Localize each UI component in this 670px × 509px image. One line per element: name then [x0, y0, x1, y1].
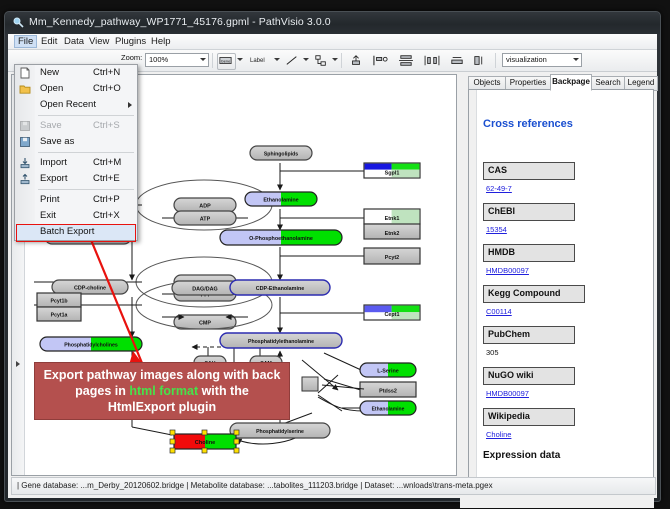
xref-db-name: PubChem: [488, 329, 530, 339]
menu-item-print[interactable]: Print Ctrl+P: [15, 192, 137, 208]
menu-edit[interactable]: Edit: [37, 35, 61, 48]
title-bar: Mm_Kennedy_pathway_WP1771_45176.gpml - P…: [5, 12, 660, 34]
gene-product-icon: Gene: [218, 54, 233, 67]
zoom-combobox[interactable]: 100%: [145, 53, 209, 67]
gene-tool-dropdown-arrow[interactable]: [237, 58, 243, 61]
cross-references-heading: Cross references: [483, 118, 573, 130]
xref-label-hmdb: HMDB: [483, 244, 575, 262]
annotation-line2-suffix: with the: [198, 384, 249, 398]
stack-vertical-button[interactable]: [396, 53, 418, 70]
xref-db-name: Wikipedia: [488, 411, 530, 421]
label-tool-button[interactable]: Label: [246, 53, 274, 70]
menu-item-open[interactable]: Open Ctrl+O: [15, 81, 137, 97]
interaction-tool-button[interactable]: [312, 53, 332, 70]
label-tool-label: Label: [250, 58, 265, 64]
menu-item-label: Import: [40, 157, 67, 168]
same-width-icon: [449, 54, 465, 67]
stack-vertical-icon: [397, 54, 415, 67]
backpage-scrollbar[interactable]: [469, 90, 477, 494]
xref-db-name: CAS: [488, 165, 507, 175]
menu-item-accel: Ctrl+S: [93, 120, 120, 131]
xref-value-hmdb[interactable]: HMDB00097: [486, 266, 529, 275]
gene-product-tool-button[interactable]: Gene: [217, 53, 236, 70]
xref-label-chebi: ChEBI: [483, 203, 575, 221]
xref-value-kegg[interactable]: C00114: [486, 307, 512, 316]
menu-item-label: Batch Export: [40, 226, 94, 237]
menu-item-label: New: [40, 67, 59, 78]
line-icon: [284, 54, 300, 67]
expression-data-heading: Expression data: [483, 450, 560, 461]
import-icon: [19, 157, 31, 169]
line-tool-button[interactable]: [283, 53, 303, 70]
xref-value-pubchem: 305: [486, 348, 499, 357]
same-width-button[interactable]: [448, 53, 468, 70]
annotation-line2-prefix: pages in: [75, 384, 129, 398]
screenshot-root: Mm_Kennedy_pathway_WP1771_45176.gpml - P…: [0, 0, 670, 509]
menu-item-label: Exit: [40, 210, 56, 221]
chevron-right-icon: [128, 102, 132, 108]
menu-data[interactable]: Data: [60, 35, 88, 48]
annotation-line1: Export pathway images along with back: [44, 368, 281, 382]
menu-item-accel: Ctrl+N: [93, 67, 120, 78]
menu-item-export[interactable]: Export Ctrl+E: [15, 171, 137, 187]
align-left-button[interactable]: [370, 53, 392, 70]
chevron-down-icon: [200, 58, 206, 61]
menu-separator: [38, 152, 134, 153]
tab-backpage[interactable]: Backpage: [550, 74, 592, 91]
xref-label-wikipedia: Wikipedia: [483, 408, 575, 426]
xref-db-name: ChEBI: [488, 206, 515, 216]
menu-item-label: Save: [40, 120, 62, 131]
menu-item-save-as[interactable]: Save as: [15, 134, 137, 150]
backpage-content: Cross references CAS 62-49-7 ChEBI 15354…: [468, 89, 654, 495]
menu-item-exit[interactable]: Exit Ctrl+X: [15, 208, 137, 224]
menu-item-label: Print: [40, 194, 60, 205]
menu-separator: [38, 115, 134, 116]
line-tool-dropdown-arrow[interactable]: [303, 58, 309, 61]
side-panel: Objects Properties Backpage Search Legen…: [460, 74, 654, 508]
visualization-value: visualization: [506, 55, 547, 64]
align-top-icon: [348, 54, 364, 67]
align-top-button[interactable]: [347, 53, 367, 70]
interaction-tool-dropdown-arrow[interactable]: [332, 58, 338, 61]
menu-item-import[interactable]: Import Ctrl+M: [15, 155, 137, 171]
menu-item-label: Open: [40, 83, 63, 94]
menu-item-accel: Ctrl+M: [93, 157, 121, 168]
menu-item-accel: Ctrl+O: [93, 83, 121, 94]
same-height-button[interactable]: [471, 53, 491, 70]
pathvisio-app-icon: [13, 17, 25, 29]
zoom-value: 100%: [149, 55, 168, 64]
xref-value-nugo[interactable]: HMDB00097: [486, 389, 529, 398]
xref-value-chebi[interactable]: 15354: [486, 225, 507, 234]
zoom-label: Zoom:: [121, 53, 142, 62]
status-bar: | Gene database: ...m_Derby_20120602.bri…: [11, 477, 656, 495]
file-menu-dropdown[interactable]: New Ctrl+N Open Ctrl+O Open Recent: [14, 64, 138, 241]
menu-view[interactable]: View: [85, 35, 113, 48]
xref-db-name: HMDB: [488, 247, 515, 257]
annotation-line2-highlight: html format: [129, 384, 198, 398]
save-disk-icon: [19, 120, 31, 132]
new-document-icon: [19, 67, 31, 79]
menu-bar: File Edit Data View Plugins Help: [8, 34, 657, 50]
xref-db-name: Kegg Compound: [488, 288, 561, 298]
label-tool-dropdown-arrow[interactable]: [274, 58, 280, 61]
distribute-horizontal-icon: [423, 54, 441, 67]
xref-value-wikipedia[interactable]: Choline: [486, 430, 511, 439]
visualization-combobox[interactable]: visualization: [502, 53, 582, 67]
align-left-icon: [371, 54, 389, 67]
side-panel-tabstrip: Objects Properties Backpage Search Legen…: [468, 74, 654, 89]
menu-item-open-recent[interactable]: Open Recent: [15, 97, 137, 113]
status-bar-text: | Gene database: ...m_Derby_20120602.bri…: [17, 481, 493, 490]
menu-file[interactable]: File: [14, 35, 37, 48]
xref-label-cas: CAS: [483, 162, 575, 180]
xref-label-nugo: NuGO wiki: [483, 367, 575, 385]
menu-item-accel: Ctrl+E: [93, 173, 120, 184]
same-height-icon: [472, 54, 488, 67]
save-as-icon: [19, 136, 31, 148]
menu-item-label: Save as: [40, 136, 74, 147]
xref-label-pubchem: PubChem: [483, 326, 575, 344]
svg-text:Gene: Gene: [221, 58, 231, 63]
distribute-button[interactable]: [422, 53, 444, 70]
annotation-line3: HtmlExport plugin: [108, 400, 216, 414]
menu-item-accel: Ctrl+X: [93, 210, 120, 221]
menu-separator: [38, 189, 134, 190]
chevron-down-icon: [573, 58, 579, 61]
menu-help[interactable]: Help: [147, 35, 175, 48]
menu-item-batch-export[interactable]: Batch Export: [15, 224, 137, 240]
xref-value-cas[interactable]: 62-49-7: [486, 184, 512, 193]
interaction-icon: [313, 54, 329, 67]
menu-plugins[interactable]: Plugins: [111, 35, 150, 48]
menu-item-label: Open Recent: [40, 99, 96, 110]
window-title: Mm_Kennedy_pathway_WP1771_45176.gpml - P…: [29, 16, 331, 28]
client-area: File Edit Data View Plugins Help Zoom: 1…: [8, 34, 657, 498]
application-window: Mm_Kennedy_pathway_WP1771_45176.gpml - P…: [4, 11, 661, 502]
annotation-callout: Export pathway images along with back pa…: [34, 362, 290, 420]
xref-db-name: NuGO wiki: [488, 370, 534, 380]
menu-item-save: Save Ctrl+S: [15, 118, 137, 134]
export-icon: [19, 173, 31, 185]
menu-item-new[interactable]: New Ctrl+N: [15, 65, 137, 81]
open-folder-icon: [19, 83, 31, 95]
menu-item-accel: Ctrl+P: [93, 194, 120, 205]
xref-label-kegg: Kegg Compound: [483, 285, 585, 303]
menu-item-label: Export: [40, 173, 67, 184]
